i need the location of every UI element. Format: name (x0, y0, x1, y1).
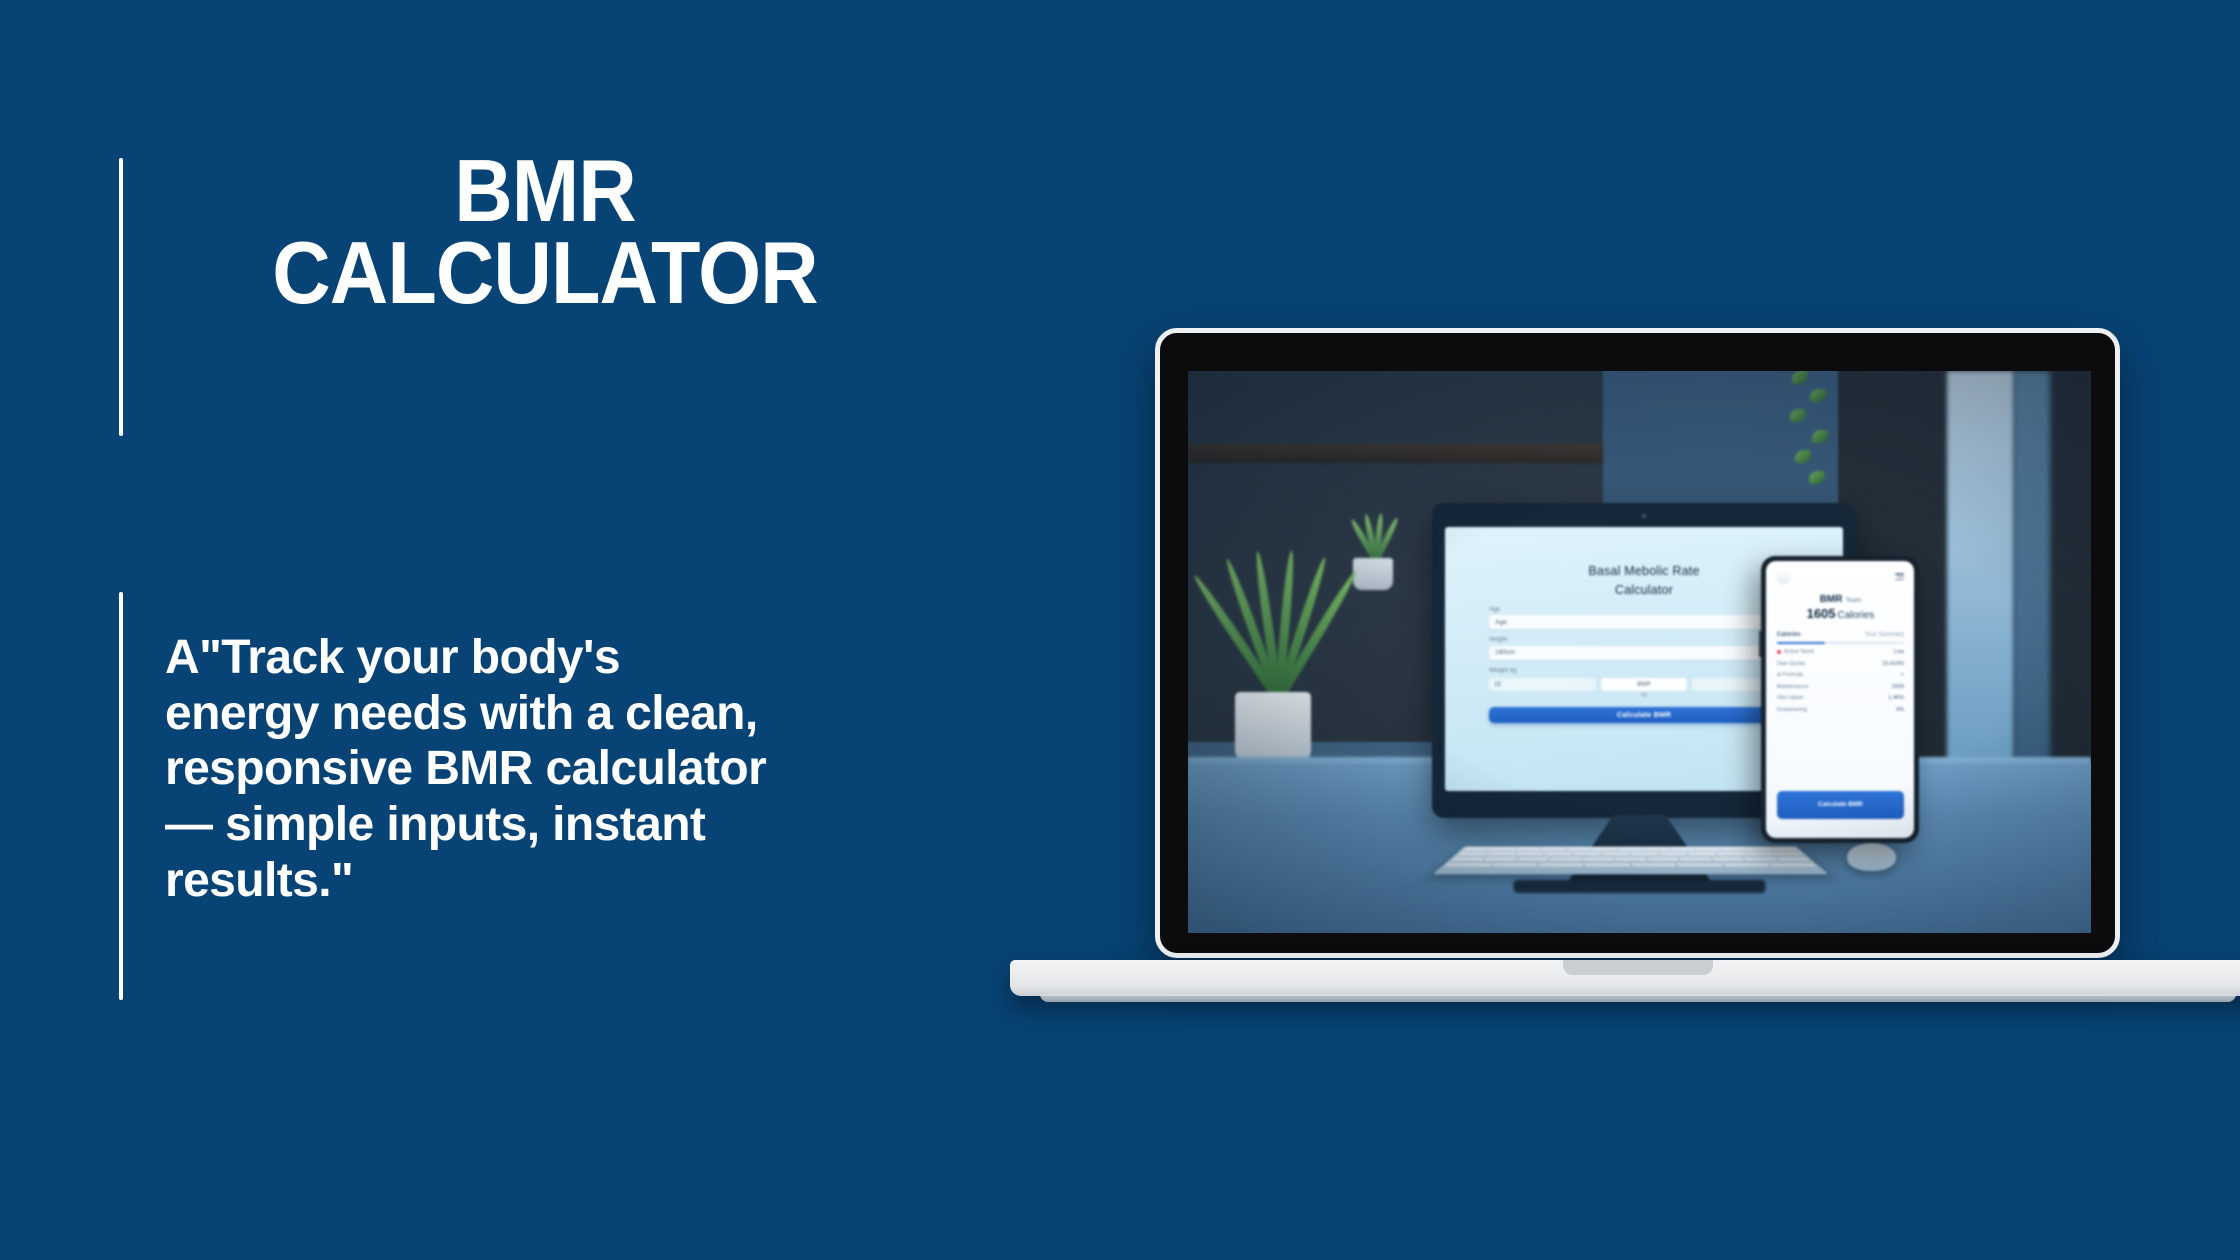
phone-result-unit: Calories (1838, 610, 1875, 621)
keyboard (1432, 847, 1829, 875)
metric-value-1: 15 (1494, 681, 1501, 688)
phone-table-header: Calories Your Summary (1777, 632, 1904, 638)
app-heading: Basal Mebolic Rate Calculator (1489, 562, 1799, 598)
webcam-icon (1642, 514, 1646, 518)
laptop-lid: Basal Mebolic Rate Calculator Age Age ♡ (1155, 328, 2120, 958)
row-label: al Formula (1777, 672, 1803, 678)
laptop-foot (1040, 994, 2236, 1002)
phone-calculate-button[interactable]: Calculate BMR (1777, 791, 1904, 819)
calculate-bmr-label: Calculate BMR (1617, 710, 1671, 719)
list-item[interactable]: Goalsharing 4% (1777, 707, 1904, 713)
hamburger-icon[interactable] (1895, 573, 1904, 580)
window-light-strip-2 (2014, 371, 2050, 776)
snake-plant (1220, 562, 1328, 764)
calculate-bmr-button[interactable]: Calculate BMR (1489, 707, 1799, 723)
list-item[interactable]: al Formula + (1777, 672, 1904, 678)
status-dot-icon (1777, 650, 1781, 654)
row-value: 4% (1896, 707, 1904, 713)
title-line-1: BMR (205, 150, 886, 232)
phone-brand-name: BMR (1820, 594, 1843, 605)
desk-photo: Basal Mebolic Rate Calculator Age Age ♡ (1188, 371, 2091, 933)
monitor-foot (1513, 880, 1766, 893)
metric-sub-2: kg (1601, 692, 1688, 698)
list-item[interactable]: Active Need Low (1777, 649, 1904, 655)
row-value: 2009 (1892, 684, 1904, 690)
row-label: Own Quota (1777, 661, 1805, 667)
phone-table-header-left: Calories (1777, 632, 1801, 638)
mouse (1847, 843, 1896, 871)
laptop-notch (1563, 960, 1713, 975)
age-input[interactable]: Age ♡ (1489, 615, 1799, 629)
age-value: Age (1495, 619, 1507, 626)
banner-canvas: BMR CALCULATOR A"Track your body's energ… (0, 0, 2240, 1260)
row-label: Goalsharing (1777, 707, 1807, 713)
laptop-screen: Basal Mebolic Rate Calculator Age Age ♡ (1188, 371, 2091, 933)
height-label: Height (1489, 636, 1799, 643)
metrics-row: 15 BMP kg (1489, 678, 1799, 698)
list-item[interactable]: Maintenance 2009 (1777, 684, 1904, 690)
row-value: 1,46% (1888, 695, 1904, 701)
phone-app-topbar (1777, 570, 1904, 583)
height-field-group: Height 180cm (1489, 636, 1799, 660)
hanging-vine-plant (1779, 371, 1842, 512)
phone-brand: BMRTeam (1777, 594, 1904, 605)
app-heading-line-2: Calculator (1489, 581, 1799, 599)
wall-shelf (1188, 444, 1603, 463)
title-accent-rule (119, 158, 123, 436)
window-light-strip (1947, 371, 2015, 787)
weight-field-group: Weight kg 15 BMP (1489, 667, 1799, 698)
bmr-phone-app: BMRTeam 1605Calories Calories Your Summa… (1766, 561, 1914, 713)
row-label: Maintenance (1777, 684, 1809, 690)
phone-side-button (1759, 631, 1761, 657)
list-item[interactable]: Own Quota 10,410% (1777, 661, 1904, 667)
progress-bar (1777, 642, 1904, 644)
app-heading-line-1: Basal Mebolic Rate (1489, 562, 1799, 580)
phone-mockup: BMRTeam 1605Calories Calories Your Summa… (1761, 556, 1919, 843)
height-value: 180cm (1495, 649, 1515, 656)
quote-text: A"Track your body's energy needs with a … (165, 630, 785, 908)
row-value: + (1901, 672, 1904, 678)
phone-brand-suffix: Team (1845, 597, 1861, 604)
age-field-group: Age Age ♡ (1489, 606, 1799, 630)
list-item[interactable]: Obs Upper 1,46% (1777, 695, 1904, 701)
metric-cell-1[interactable]: 15 (1489, 678, 1596, 691)
quote-block: A"Track your body's energy needs with a … (165, 630, 785, 908)
row-label: Active Need (1784, 649, 1814, 655)
page-title: BMR CALCULATOR (175, 150, 915, 314)
weight-label: Weight kg (1489, 667, 1799, 674)
row-value: 10,410% (1882, 661, 1904, 667)
age-label: Age (1489, 606, 1799, 613)
metric-cell-2[interactable]: BMP (1601, 678, 1688, 691)
height-input[interactable]: 180cm (1489, 646, 1799, 660)
metric-cell-2-wrap: BMP kg (1601, 678, 1688, 698)
quote-accent-rule (119, 592, 123, 1000)
metric-value-2: BMP (1637, 681, 1650, 688)
phone-result-value: 1605 (1807, 606, 1836, 621)
phone-table-header-right: Your Summary (1865, 632, 1904, 638)
phone-calculate-label: Calculate BMR (1818, 801, 1863, 808)
title-line-2: CALCULATOR (205, 232, 886, 314)
avatar[interactable] (1777, 570, 1790, 583)
laptop-mockup: Basal Mebolic Rate Calculator Age Age ♡ (1155, 328, 2120, 988)
phone-screen: BMRTeam 1605Calories Calories Your Summa… (1766, 561, 1914, 838)
row-value: Low (1894, 649, 1904, 655)
row-label: Obs Upper (1777, 695, 1804, 701)
phone-result: 1605Calories (1777, 606, 1904, 621)
